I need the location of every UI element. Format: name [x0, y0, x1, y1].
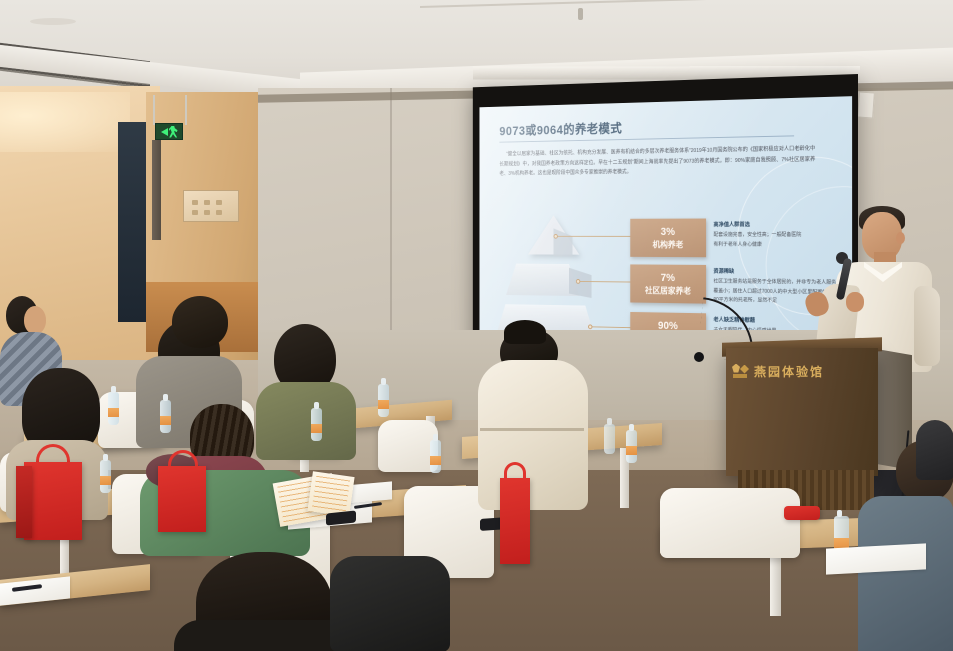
connector-dot-1: [554, 234, 558, 239]
person-puffer-coat: [478, 360, 588, 510]
gift-bag[interactable]: [158, 466, 206, 532]
microphone-capsule: [694, 352, 704, 362]
podium-nameplate: 燕园体验馆: [732, 356, 856, 386]
note-title: 资源稀缺: [713, 267, 852, 276]
venue-name: 燕园体验馆: [754, 363, 824, 380]
ceiling-hook: [578, 8, 583, 20]
gift-bag-side: [16, 466, 32, 538]
conference-room-photo: 9073或9064的养老模式 “健全以居家为基础、社区为依托、机构充分发展、医养…: [0, 0, 953, 651]
tier-label-institutional: 3% 机构养老: [630, 219, 706, 258]
speaker-right-arm: [914, 286, 940, 366]
connector-dot-2: [576, 279, 580, 284]
person-hair: [172, 296, 228, 348]
gift-bag-handle: [504, 462, 526, 480]
connector-line-1: [555, 236, 630, 237]
wall-niche: [118, 122, 148, 322]
speaker-hand: [846, 292, 864, 312]
speaker-ear: [896, 232, 905, 244]
hair-bow-accessory: [504, 320, 546, 344]
water-bottle[interactable]: [430, 440, 441, 473]
pyramid-tier-middle-side: [569, 268, 592, 298]
exit-sign-post: [152, 140, 161, 240]
water-bottle[interactable]: [160, 400, 171, 433]
wall-tag: [857, 91, 875, 118]
gift-bag-flat[interactable]: [784, 506, 820, 520]
person-face: [24, 306, 46, 334]
person-torso: [858, 496, 953, 651]
gift-bag[interactable]: [24, 462, 82, 540]
note-title: 高净值人群首选: [713, 220, 852, 228]
handout-paper[interactable]: [826, 543, 926, 574]
ceiling-light: [30, 18, 76, 25]
exit-arrow-icon: [161, 128, 168, 136]
person-torso: [256, 382, 356, 460]
tier-label-community: 7% 社区居家养老: [630, 264, 706, 304]
tier-note-institutional: 高净值人群首选 配套设施完善，安全性高；一般配备医院 有利于老年人身心健康: [713, 220, 852, 250]
water-bottle[interactable]: [311, 408, 322, 441]
water-bottle[interactable]: [100, 460, 111, 493]
connector-line-3: [590, 326, 630, 328]
connector-dot-3: [588, 324, 592, 329]
tier-percent: 7%: [634, 271, 703, 286]
coat-belt: [480, 428, 584, 431]
water-bottle[interactable]: [626, 430, 637, 463]
water-bottle[interactable]: [108, 392, 119, 425]
venue-logo-icon: [732, 364, 749, 379]
slide-body-text: “健全以居家为基础、社区为依托、机构充分发展、医养有机结合的多层次养老服务体系”…: [499, 144, 815, 179]
brochure[interactable]: [307, 471, 354, 516]
light-switch-panel[interactable]: [183, 190, 239, 222]
chair[interactable]: [660, 488, 800, 558]
wall-glow: [0, 92, 130, 152]
note-line: 配套设施完善，安全性高；一般配备医院: [713, 231, 852, 241]
gift-bag[interactable]: [500, 478, 530, 564]
note-line: 有利于老年人身心健康: [713, 240, 852, 250]
pyramid-tier-middle: [506, 264, 579, 296]
tier-name: 社区居家养老: [634, 285, 703, 297]
water-bottle[interactable]: [378, 384, 389, 417]
person-torso: [916, 420, 953, 480]
person-torso: [330, 556, 450, 651]
tier-name: 机构养老: [634, 240, 703, 251]
water-bottle[interactable]: [604, 424, 615, 454]
emergency-exit-sign: [155, 123, 183, 140]
tier-percent: 3%: [634, 225, 703, 239]
running-man-icon: [169, 126, 178, 138]
chair[interactable]: [378, 420, 438, 472]
